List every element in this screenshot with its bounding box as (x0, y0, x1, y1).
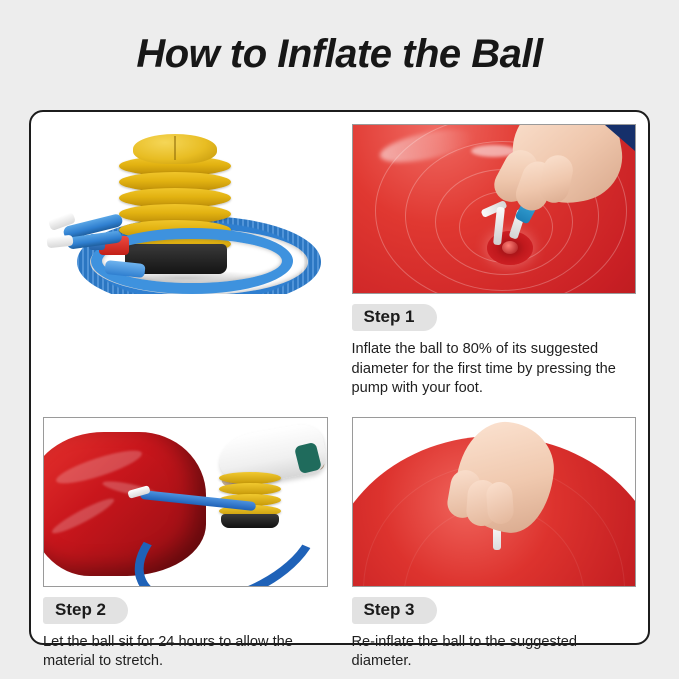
step-description-1: Inflate the ball to 80% of its suggested… (352, 340, 630, 399)
steps-grid: Step 1 Inflate the ball to 80% of its su… (31, 112, 648, 643)
deflated-ball-with-pump-and-shoe-photo (43, 417, 328, 587)
removing-plug-from-ball-photo (352, 417, 637, 587)
inflating-ball-with-valve-tool-photo (352, 124, 637, 294)
cell-step-3: Step 3 Re-inflate the ball to the sugges… (340, 405, 649, 678)
step-badge-2: Step 2 (43, 597, 128, 624)
background-corner (605, 125, 635, 151)
infographic-page: How to Inflate the Ball (0, 0, 679, 679)
steps-card: Step 1 Inflate the ball to 80% of its su… (29, 110, 650, 645)
finger (485, 481, 514, 525)
step-description-3: Re-inflate the ball to the suggested dia… (352, 633, 630, 672)
ball-closeup-illustration (353, 125, 636, 293)
ball-valve-plug (502, 241, 518, 254)
step-badge-1: Step 1 (352, 304, 437, 331)
bellows-cap-seam (174, 136, 176, 160)
cell-step-2: Step 2 Let the ball sit for 24 hours to … (31, 405, 340, 678)
step-badge-3: Step 3 (352, 597, 437, 624)
foot-pump-photo (43, 124, 328, 294)
plug-removal-illustration (353, 418, 636, 586)
step-description-2: Let the ball sit for 24 hours to allow t… (43, 633, 321, 672)
cell-step-1: Step 1 Inflate the ball to 80% of its su… (340, 112, 649, 405)
cell-product-photo (31, 112, 340, 405)
foot-pump-illustration (43, 124, 328, 294)
page-title: How to Inflate the Ball (0, 30, 679, 78)
deflated-ball-illustration (44, 418, 327, 586)
